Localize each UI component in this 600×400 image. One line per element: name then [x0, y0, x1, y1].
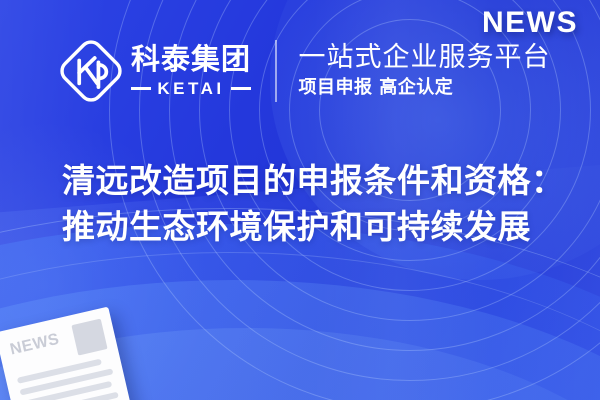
brand-logo[interactable]: 科泰集团 KETAI	[60, 40, 251, 102]
banner-header: 科泰集团 KETAI 一站式企业服务平台 项目申报 高企认定	[60, 40, 551, 102]
wordmark-rule-left	[131, 87, 151, 90]
ketai-diamond-kp-logo-icon	[60, 40, 122, 102]
news-banner: NEWS 科泰集团 KETAI 一站式企业服务平台	[0, 0, 600, 400]
brand-name-cn: 科泰集团	[131, 46, 251, 75]
brand-name-en: KETAI	[157, 80, 224, 97]
page-title-line-2: 推动生态环境保护和可持续发展	[62, 204, 562, 250]
newspaper-thumbnail-block	[71, 319, 107, 356]
corner-news-label: NEWS	[482, 6, 578, 40]
wordmark-rule-right	[231, 87, 251, 90]
page-title: 清远改造项目的申报条件和资格： 推动生态环境保护和可持续发展	[62, 158, 562, 249]
tagline-sub: 项目申报 高企认定	[299, 77, 551, 100]
tagline-main: 一站式企业服务平台	[299, 42, 551, 74]
brand-name-en-row: KETAI	[131, 80, 251, 97]
newspaper-headline: NEWS	[8, 327, 68, 359]
brand-tagline: 一站式企业服务平台 项目申报 高企认定	[299, 42, 551, 99]
header-divider	[275, 40, 277, 102]
page-title-line-1: 清远改造项目的申报条件和资格：	[62, 158, 562, 204]
brand-wordmark: 科泰集团 KETAI	[131, 46, 251, 97]
